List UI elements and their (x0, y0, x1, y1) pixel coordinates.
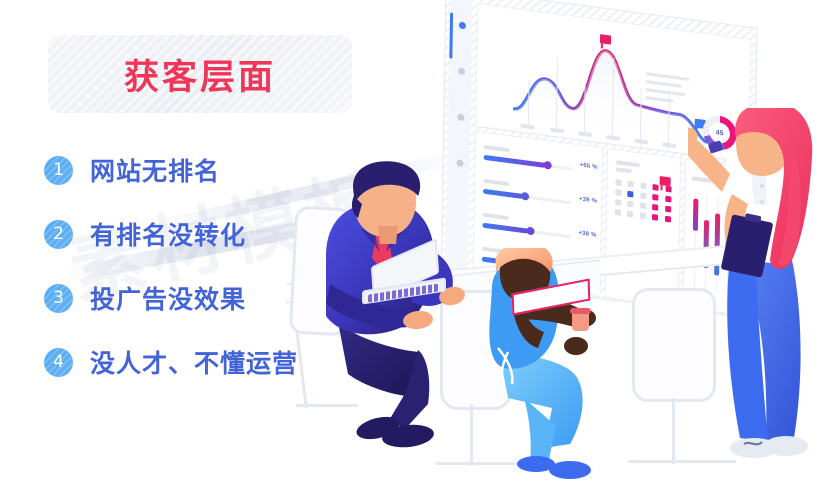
calendar-cell[interactable] (640, 202, 646, 209)
nav-dot-2-icon[interactable] (458, 67, 465, 75)
list-item-label: 没人才、不懂运营 (90, 344, 298, 380)
page-title-badge: 获客层面 (48, 35, 352, 113)
list-item-number: 1 (44, 156, 73, 185)
list-item-label: 网站无排名 (90, 152, 220, 188)
list-item-number: 3 (44, 284, 73, 313)
calendar-cell[interactable] (652, 204, 658, 211)
calendar-cell-selected[interactable] (628, 191, 634, 198)
sidebar-active-indicator (449, 12, 453, 58)
calendar-cell[interactable] (665, 216, 671, 223)
progress-value: +38 % (578, 230, 596, 238)
summary-text-lines (645, 72, 694, 110)
calendar-cell[interactable] (652, 214, 658, 221)
progress-knob[interactable] (544, 161, 552, 170)
list-item-number: 2 (44, 220, 73, 249)
calendar-cell[interactable] (640, 182, 646, 189)
calendar-cell[interactable] (615, 189, 621, 196)
progress-row[interactable]: +39 % (483, 179, 595, 220)
list-item-label: 有排名没转化 (90, 216, 246, 252)
nav-dot-1-icon[interactable] (459, 22, 466, 30)
progress-knob[interactable] (526, 226, 534, 235)
text-line (645, 88, 685, 96)
nav-dot-3-icon[interactable] (457, 113, 464, 121)
calendar-cell[interactable] (628, 181, 634, 188)
calendar-title-bar (616, 160, 640, 167)
text-line (645, 80, 681, 88)
calendar-cell[interactable] (640, 192, 646, 199)
calendar-cell[interactable] (628, 201, 634, 208)
flag-marker-small-icon (660, 176, 671, 186)
flag-marker-peak-icon (600, 34, 611, 44)
calendar-cell[interactable] (665, 186, 671, 193)
progress-fill (484, 155, 546, 168)
progress-row-label (484, 145, 510, 152)
coffee-cup-lid (570, 308, 591, 314)
person-with-cup (452, 248, 622, 500)
progress-value: +39 % (579, 196, 597, 204)
calendar-cell[interactable] (615, 179, 621, 186)
coffee-cup[interactable] (572, 312, 589, 331)
progress-value: +65 % (579, 162, 597, 170)
calendar-subtitle-bar (616, 167, 632, 173)
illustration-canvas: 素材模板 获客层面 1 网站无排名 2 有排名没转化 3 投广告没效果 4 没人… (0, 0, 823, 500)
calendar-cell[interactable] (640, 212, 646, 219)
list-item-number: 4 (44, 348, 73, 377)
person-cup-svg (452, 248, 622, 500)
woman-svg (688, 108, 823, 500)
calendar-cell[interactable] (665, 206, 671, 213)
list-item-label: 投广告没效果 (90, 280, 246, 316)
calendar-cell[interactable] (615, 209, 621, 216)
calendar-cell[interactable] (653, 184, 659, 191)
calendar-widget[interactable] (615, 160, 674, 223)
woman-presenting (688, 108, 823, 500)
calendar-cell[interactable] (627, 211, 633, 218)
progress-knob[interactable] (521, 192, 529, 201)
calendar-cell[interactable] (652, 194, 658, 201)
text-line (645, 96, 673, 103)
page-title: 获客层面 (124, 49, 276, 100)
progress-row[interactable]: +65 % (483, 145, 595, 186)
calendar-cell[interactable] (665, 196, 671, 203)
calendar-cell[interactable] (615, 199, 621, 206)
chair-right-leg (672, 398, 675, 464)
